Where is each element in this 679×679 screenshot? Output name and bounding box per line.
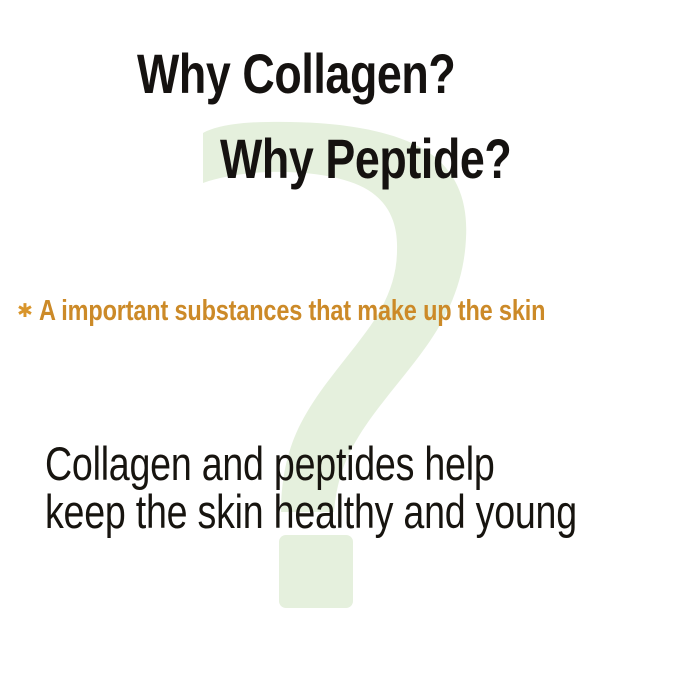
page-title-secondary: Why Peptide? — [220, 131, 511, 187]
page-title-primary: Why Collagen? — [137, 46, 455, 102]
question-mark-dot-shape — [279, 535, 353, 608]
poster-canvas: Why Collagen? Why Peptide? ✱ A important… — [0, 0, 679, 679]
bullet-row: ✱ A important substances that make up th… — [14, 294, 674, 328]
asterisk-bullet-icon: ✱ — [17, 303, 33, 319]
body-line-2: keep the skin healthy and young — [45, 488, 541, 536]
body-line-1: Collagen and peptides help — [45, 440, 541, 488]
body-copy: Collagen and peptides help keep the skin… — [45, 440, 665, 536]
bullet-text: A important substances that make up the … — [39, 294, 545, 328]
